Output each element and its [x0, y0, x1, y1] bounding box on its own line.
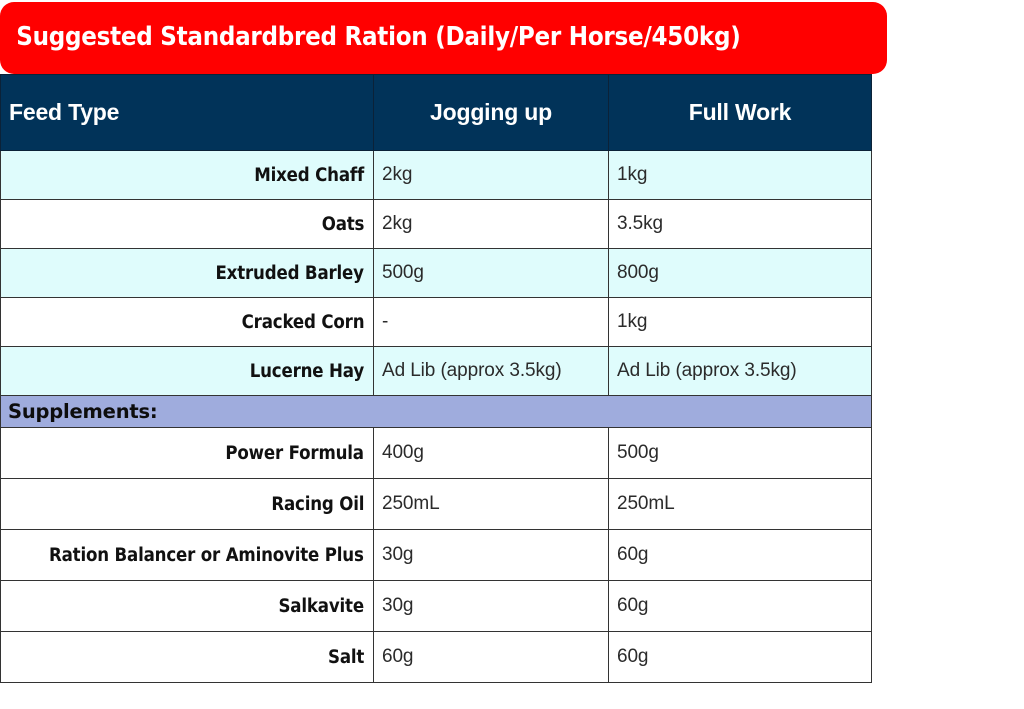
jogging-up-cell: 60g	[374, 632, 609, 683]
jogging-up-cell: 400g	[374, 428, 609, 479]
full-work-cell: 60g	[609, 632, 872, 683]
ration-table: Feed Type Jogging up Full Work Mixed Cha…	[0, 74, 872, 683]
feed-type-cell: Lucerne Hay	[1, 347, 374, 396]
full-work-cell: 60g	[609, 581, 872, 632]
table-row: Oats 2kg 3.5kg	[1, 200, 872, 249]
feed-type-label: Oats	[321, 214, 364, 235]
feed-type-label: Power Formula	[226, 443, 364, 464]
feed-type-label: Ration Balancer or Aminovite Plus	[49, 545, 364, 566]
section-header-row: Supplements:	[1, 396, 872, 428]
table-row: Mixed Chaff 2kg 1kg	[1, 151, 872, 200]
table-body: Mixed Chaff 2kg 1kg Oats 2kg 3.5kg Extru…	[1, 151, 872, 683]
jogging-up-cell: 250mL	[374, 479, 609, 530]
feed-type-label: Salt	[328, 647, 364, 668]
section-header-supplements: Supplements:	[1, 396, 872, 428]
feed-type-cell: Oats	[1, 200, 374, 249]
feed-type-label: Extruded Barley	[216, 263, 364, 284]
feed-type-cell: Extruded Barley	[1, 249, 374, 298]
full-work-cell: 1kg	[609, 151, 872, 200]
jogging-up-cell: 2kg	[374, 151, 609, 200]
table-row: Racing Oil 250mL 250mL	[1, 479, 872, 530]
column-header-full-work: Full Work	[609, 75, 872, 151]
jogging-up-cell: 2kg	[374, 200, 609, 249]
jogging-up-cell: 30g	[374, 581, 609, 632]
full-work-cell: 500g	[609, 428, 872, 479]
full-work-cell: Ad Lib (approx 3.5kg)	[609, 347, 872, 396]
jogging-up-cell: Ad Lib (approx 3.5kg)	[374, 347, 609, 396]
table-row: Cracked Corn - 1kg	[1, 298, 872, 347]
full-work-cell: 250mL	[609, 479, 872, 530]
feed-type-cell: Racing Oil	[1, 479, 374, 530]
page-title: Suggested Standardbred Ration (Daily/Per…	[0, 25, 740, 51]
feed-type-cell: Ration Balancer or Aminovite Plus	[1, 530, 374, 581]
table-row: Ration Balancer or Aminovite Plus 30g 60…	[1, 530, 872, 581]
table-row: Salt 60g 60g	[1, 632, 872, 683]
table-row: Extruded Barley 500g 800g	[1, 249, 872, 298]
feed-type-cell: Salkavite	[1, 581, 374, 632]
feed-type-label: Lucerne Hay	[250, 361, 364, 382]
table-row: Salkavite 30g 60g	[1, 581, 872, 632]
feed-type-cell: Power Formula	[1, 428, 374, 479]
feed-type-label: Cracked Corn	[241, 312, 364, 333]
full-work-cell: 60g	[609, 530, 872, 581]
column-header-feed-type: Feed Type	[1, 75, 374, 151]
jogging-up-cell: -	[374, 298, 609, 347]
feed-type-cell: Cracked Corn	[1, 298, 374, 347]
table-header-row: Feed Type Jogging up Full Work	[1, 75, 872, 151]
jogging-up-cell: 500g	[374, 249, 609, 298]
table-row: Lucerne Hay Ad Lib (approx 3.5kg) Ad Lib…	[1, 347, 872, 396]
ration-table-page: Suggested Standardbred Ration (Daily/Per…	[0, 0, 1024, 709]
table-row: Power Formula 400g 500g	[1, 428, 872, 479]
full-work-cell: 1kg	[609, 298, 872, 347]
full-work-cell: 3.5kg	[609, 200, 872, 249]
jogging-up-cell: 30g	[374, 530, 609, 581]
feed-type-label: Salkavite	[279, 596, 364, 617]
column-header-jogging-up: Jogging up	[374, 75, 609, 151]
feed-type-cell: Mixed Chaff	[1, 151, 374, 200]
feed-type-label: Mixed Chaff	[254, 165, 364, 186]
full-work-cell: 800g	[609, 249, 872, 298]
title-banner: Suggested Standardbred Ration (Daily/Per…	[0, 2, 887, 74]
feed-type-label: Racing Oil	[271, 494, 364, 515]
feed-type-cell: Salt	[1, 632, 374, 683]
